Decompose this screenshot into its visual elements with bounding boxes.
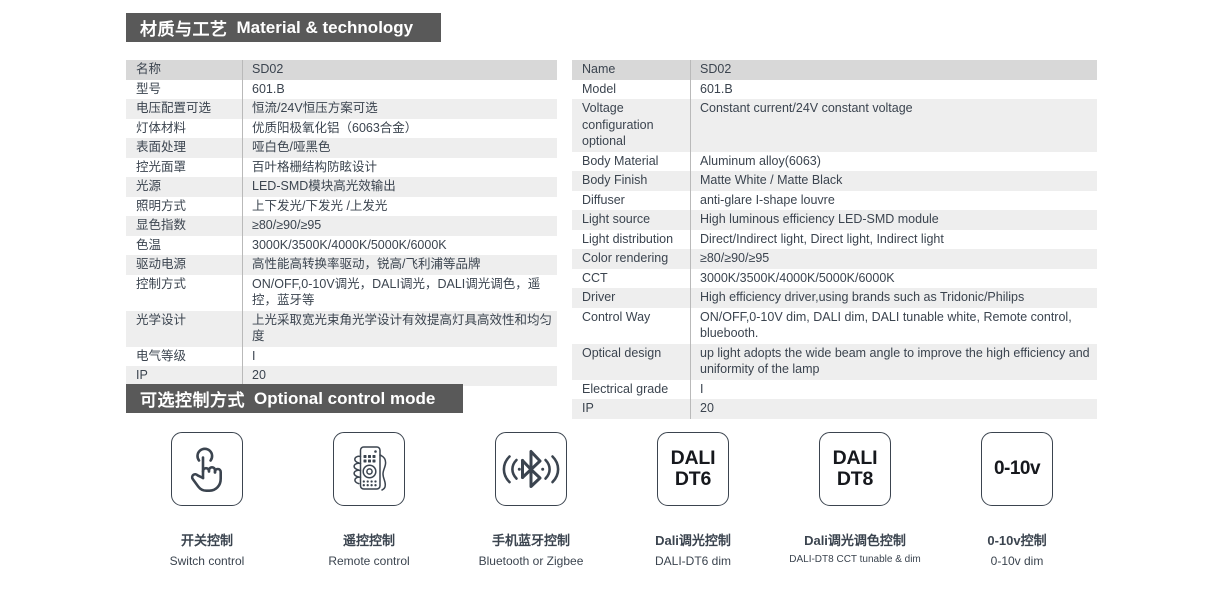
spec-label: CCT — [572, 269, 691, 289]
spec-value: SD02 — [691, 60, 1098, 80]
spec-row: Electrical gradeI — [572, 380, 1097, 400]
section-header-control: 可选控制方式 Optional control mode — [126, 384, 463, 413]
spec-label: IP — [572, 399, 691, 419]
spec-table-chinese: 名称SD02型号601.B电压配置可选恒流/24V恒压方案可选灯体材料优质阳极氧… — [126, 60, 557, 386]
control-mode-item[interactable]: 开关控制Switch control — [126, 432, 288, 568]
spec-label: 照明方式 — [126, 197, 243, 217]
spec-row: 光源LED-SMD模块高光效输出 — [126, 177, 557, 197]
spec-row: 照明方式上下发光/下发光 /上发光 — [126, 197, 557, 217]
dali-icon-label-line2: DT6 — [671, 469, 716, 490]
control-mode-label-en: Bluetooth or Zigbee — [479, 554, 584, 568]
spec-value: ≥80/≥90/≥95 — [243, 216, 558, 236]
spec-table-chinese-body: 名称SD02型号601.B电压配置可选恒流/24V恒压方案可选灯体材料优质阳极氧… — [126, 60, 557, 386]
spec-label: Color rendering — [572, 249, 691, 269]
spec-label: 电气等级 — [126, 347, 243, 367]
spec-label: 控制方式 — [126, 275, 243, 311]
spec-row: Color rendering≥80/≥90/≥95 — [572, 249, 1097, 269]
section-header-material-en: Material & technology — [237, 18, 414, 38]
spec-table-english: NameSD02Model601.BVoltage configuration … — [572, 60, 1097, 419]
spec-label: 光源 — [126, 177, 243, 197]
spec-row: 驱动电源高性能高转换率驱动，锐高/飞利浦等品牌 — [126, 255, 557, 275]
zero-to-ten-volt-icon[interactable]: 0-10v — [981, 432, 1053, 506]
spec-label: 名称 — [126, 60, 243, 80]
spec-label: Body Finish — [572, 171, 691, 191]
control-mode-label-cn: 遥控控制 — [343, 530, 395, 549]
spec-label: Light distribution — [572, 230, 691, 250]
spec-value: ON/OFF,0-10V dim, DALI dim, DALI tunable… — [691, 308, 1098, 344]
spec-row: IP20 — [126, 366, 557, 386]
spec-value: 哑白色/哑黑色 — [243, 138, 558, 158]
spec-label: Body Material — [572, 152, 691, 172]
spec-value: High luminous efficiency LED-SMD module — [691, 210, 1098, 230]
control-mode-label-en: Switch control — [170, 554, 245, 568]
spec-value: 高性能高转换率驱动，锐高/飞利浦等品牌 — [243, 255, 558, 275]
spec-row: Control WayON/OFF,0-10V dim, DALI dim, D… — [572, 308, 1097, 344]
dali-icon-label: DALIDT6 — [671, 448, 716, 489]
dali-icon-label: DALIDT8 — [833, 448, 878, 489]
control-mode-item[interactable]: 手机蓝牙控制Bluetooth or Zigbee — [450, 432, 612, 568]
spec-row: 表面处理哑白色/哑黑色 — [126, 138, 557, 158]
spec-value: I — [691, 380, 1098, 400]
spec-label: Electrical grade — [572, 380, 691, 400]
spec-row: IP20 — [572, 399, 1097, 419]
spec-row: 控光面罩百叶格栅结构防眩设计 — [126, 158, 557, 178]
spec-label: Optical design — [572, 344, 691, 380]
control-mode-list: 开关控制Switch control — [126, 432, 1098, 568]
spec-value: 3000K/3500K/4000K/5000K/6000K — [691, 269, 1098, 289]
spec-value: ≥80/≥90/≥95 — [691, 249, 1098, 269]
spec-row: Model601.B — [572, 80, 1097, 100]
dali-icon-label-line1: DALI — [833, 448, 878, 469]
dali-dt8-icon[interactable]: DALIDT8 — [819, 432, 891, 506]
spec-label: Driver — [572, 288, 691, 308]
control-mode-label-en: DALI-DT8 CCT tunable & dim — [789, 554, 921, 565]
bluetooth-signal-icon[interactable] — [495, 432, 567, 506]
spec-label: Control Way — [572, 308, 691, 344]
spec-row: Light distributionDirect/Indirect light,… — [572, 230, 1097, 250]
control-mode-label-cn: 开关控制 — [181, 530, 233, 549]
spec-value: SD02 — [243, 60, 558, 80]
spec-table-english-body: NameSD02Model601.BVoltage configuration … — [572, 60, 1097, 419]
spec-row: 光学设计上光采取宽光束角光学设计有效提高灯具高效性和均匀度 — [126, 311, 557, 347]
control-mode-item[interactable]: 0-10v0-10v控制0-10v dim — [936, 432, 1098, 568]
spec-row: Light sourceHigh luminous efficiency LED… — [572, 210, 1097, 230]
spec-value: 上下发光/下发光 /上发光 — [243, 197, 558, 217]
spec-row: 色温3000K/3500K/4000K/5000K/6000K — [126, 236, 557, 256]
spec-row: Diffuseranti-glare I-shape louvre — [572, 191, 1097, 211]
spec-label: Diffuser — [572, 191, 691, 211]
control-mode-item[interactable]: DALIDT8Dali调光调色控制DALI-DT8 CCT tunable & … — [774, 432, 936, 568]
spec-row: 显色指数≥80/≥90/≥95 — [126, 216, 557, 236]
control-mode-item[interactable]: DALIDT6Dali调光控制DALI-DT6 dim — [612, 432, 774, 568]
spec-value: Direct/Indirect light, Direct light, Ind… — [691, 230, 1098, 250]
spec-row: Voltage configuration optionalConstant c… — [572, 99, 1097, 152]
spec-row: Body FinishMatte White / Matte Black — [572, 171, 1097, 191]
control-mode-label-cn: 手机蓝牙控制 — [492, 530, 570, 549]
voltage-icon-label: 0-10v — [994, 458, 1040, 480]
section-header-material: 材质与工艺 Material & technology — [126, 13, 441, 42]
spec-label: IP — [126, 366, 243, 386]
spec-value: 3000K/3500K/4000K/5000K/6000K — [243, 236, 558, 256]
dali-dt6-icon[interactable]: DALIDT6 — [657, 432, 729, 506]
spec-label: Model — [572, 80, 691, 100]
spec-value: ON/OFF,0-10V调光，DALI调光，DALI调光调色，遥控，蓝牙等 — [243, 275, 558, 311]
spec-label: 显色指数 — [126, 216, 243, 236]
spec-row: Optical designup light adopts the wide b… — [572, 344, 1097, 380]
spec-label: 型号 — [126, 80, 243, 100]
spec-value: 601.B — [691, 80, 1098, 100]
section-header-control-cn: 可选控制方式 — [140, 386, 245, 411]
spec-value: Matte White / Matte Black — [691, 171, 1098, 191]
spec-label: 电压配置可选 — [126, 99, 243, 119]
spec-value: 上光采取宽光束角光学设计有效提高灯具高效性和均匀度 — [243, 311, 558, 347]
spec-label: Light source — [572, 210, 691, 230]
spec-value: High efficiency driver,using brands such… — [691, 288, 1098, 308]
touch-hand-icon[interactable] — [171, 432, 243, 506]
dali-icon-label-line2: DT8 — [833, 469, 878, 490]
spec-row: 名称SD02 — [126, 60, 557, 80]
spec-row: NameSD02 — [572, 60, 1097, 80]
spec-row: DriverHigh efficiency driver,using brand… — [572, 288, 1097, 308]
control-mode-label-en: Remote control — [328, 554, 409, 568]
control-mode-label-en: DALI-DT6 dim — [655, 554, 731, 568]
control-mode-label-cn: Dali调光调色控制 — [804, 530, 906, 549]
spec-label: Voltage configuration optional — [572, 99, 691, 152]
section-header-control-en: Optional control mode — [254, 389, 435, 409]
control-mode-item[interactable]: 遥控控制Remote control — [288, 432, 450, 568]
spec-label: 光学设计 — [126, 311, 243, 347]
spec-label: 灯体材料 — [126, 119, 243, 139]
control-mode-label-cn: 0-10v控制 — [987, 530, 1046, 549]
spec-row: 电气等级I — [126, 347, 557, 367]
dali-icon-label-line1: DALI — [671, 448, 716, 469]
spec-row: CCT3000K/3500K/4000K/5000K/6000K — [572, 269, 1097, 289]
spec-value: anti-glare I-shape louvre — [691, 191, 1098, 211]
spec-label: 色温 — [126, 236, 243, 256]
spec-value: Constant current/24V constant voltage — [691, 99, 1098, 152]
remote-in-hand-icon[interactable] — [333, 432, 405, 506]
spec-value: 优质阳极氧化铝（6063合金） — [243, 119, 558, 139]
section-header-material-cn: 材质与工艺 — [140, 15, 228, 40]
spec-row: Body MaterialAluminum alloy(6063) — [572, 152, 1097, 172]
spec-label: 控光面罩 — [126, 158, 243, 178]
spec-value: I — [243, 347, 558, 367]
spec-label: Name — [572, 60, 691, 80]
spec-value: LED-SMD模块高光效输出 — [243, 177, 558, 197]
spec-row: 控制方式ON/OFF,0-10V调光，DALI调光，DALI调光调色，遥控，蓝牙… — [126, 275, 557, 311]
control-mode-label-cn: Dali调光控制 — [655, 530, 731, 549]
spec-row: 型号601.B — [126, 80, 557, 100]
spec-value: 恒流/24V恒压方案可选 — [243, 99, 558, 119]
spec-value: 20 — [243, 366, 558, 386]
spec-value: 20 — [691, 399, 1098, 419]
control-mode-label-en: 0-10v dim — [991, 554, 1044, 568]
spec-value: up light adopts the wide beam angle to i… — [691, 344, 1098, 380]
spec-label: 驱动电源 — [126, 255, 243, 275]
spec-row: 灯体材料优质阳极氧化铝（6063合金） — [126, 119, 557, 139]
spec-row: 电压配置可选恒流/24V恒压方案可选 — [126, 99, 557, 119]
spec-value: 601.B — [243, 80, 558, 100]
spec-value: 百叶格栅结构防眩设计 — [243, 158, 558, 178]
spec-value: Aluminum alloy(6063) — [691, 152, 1098, 172]
spec-label: 表面处理 — [126, 138, 243, 158]
